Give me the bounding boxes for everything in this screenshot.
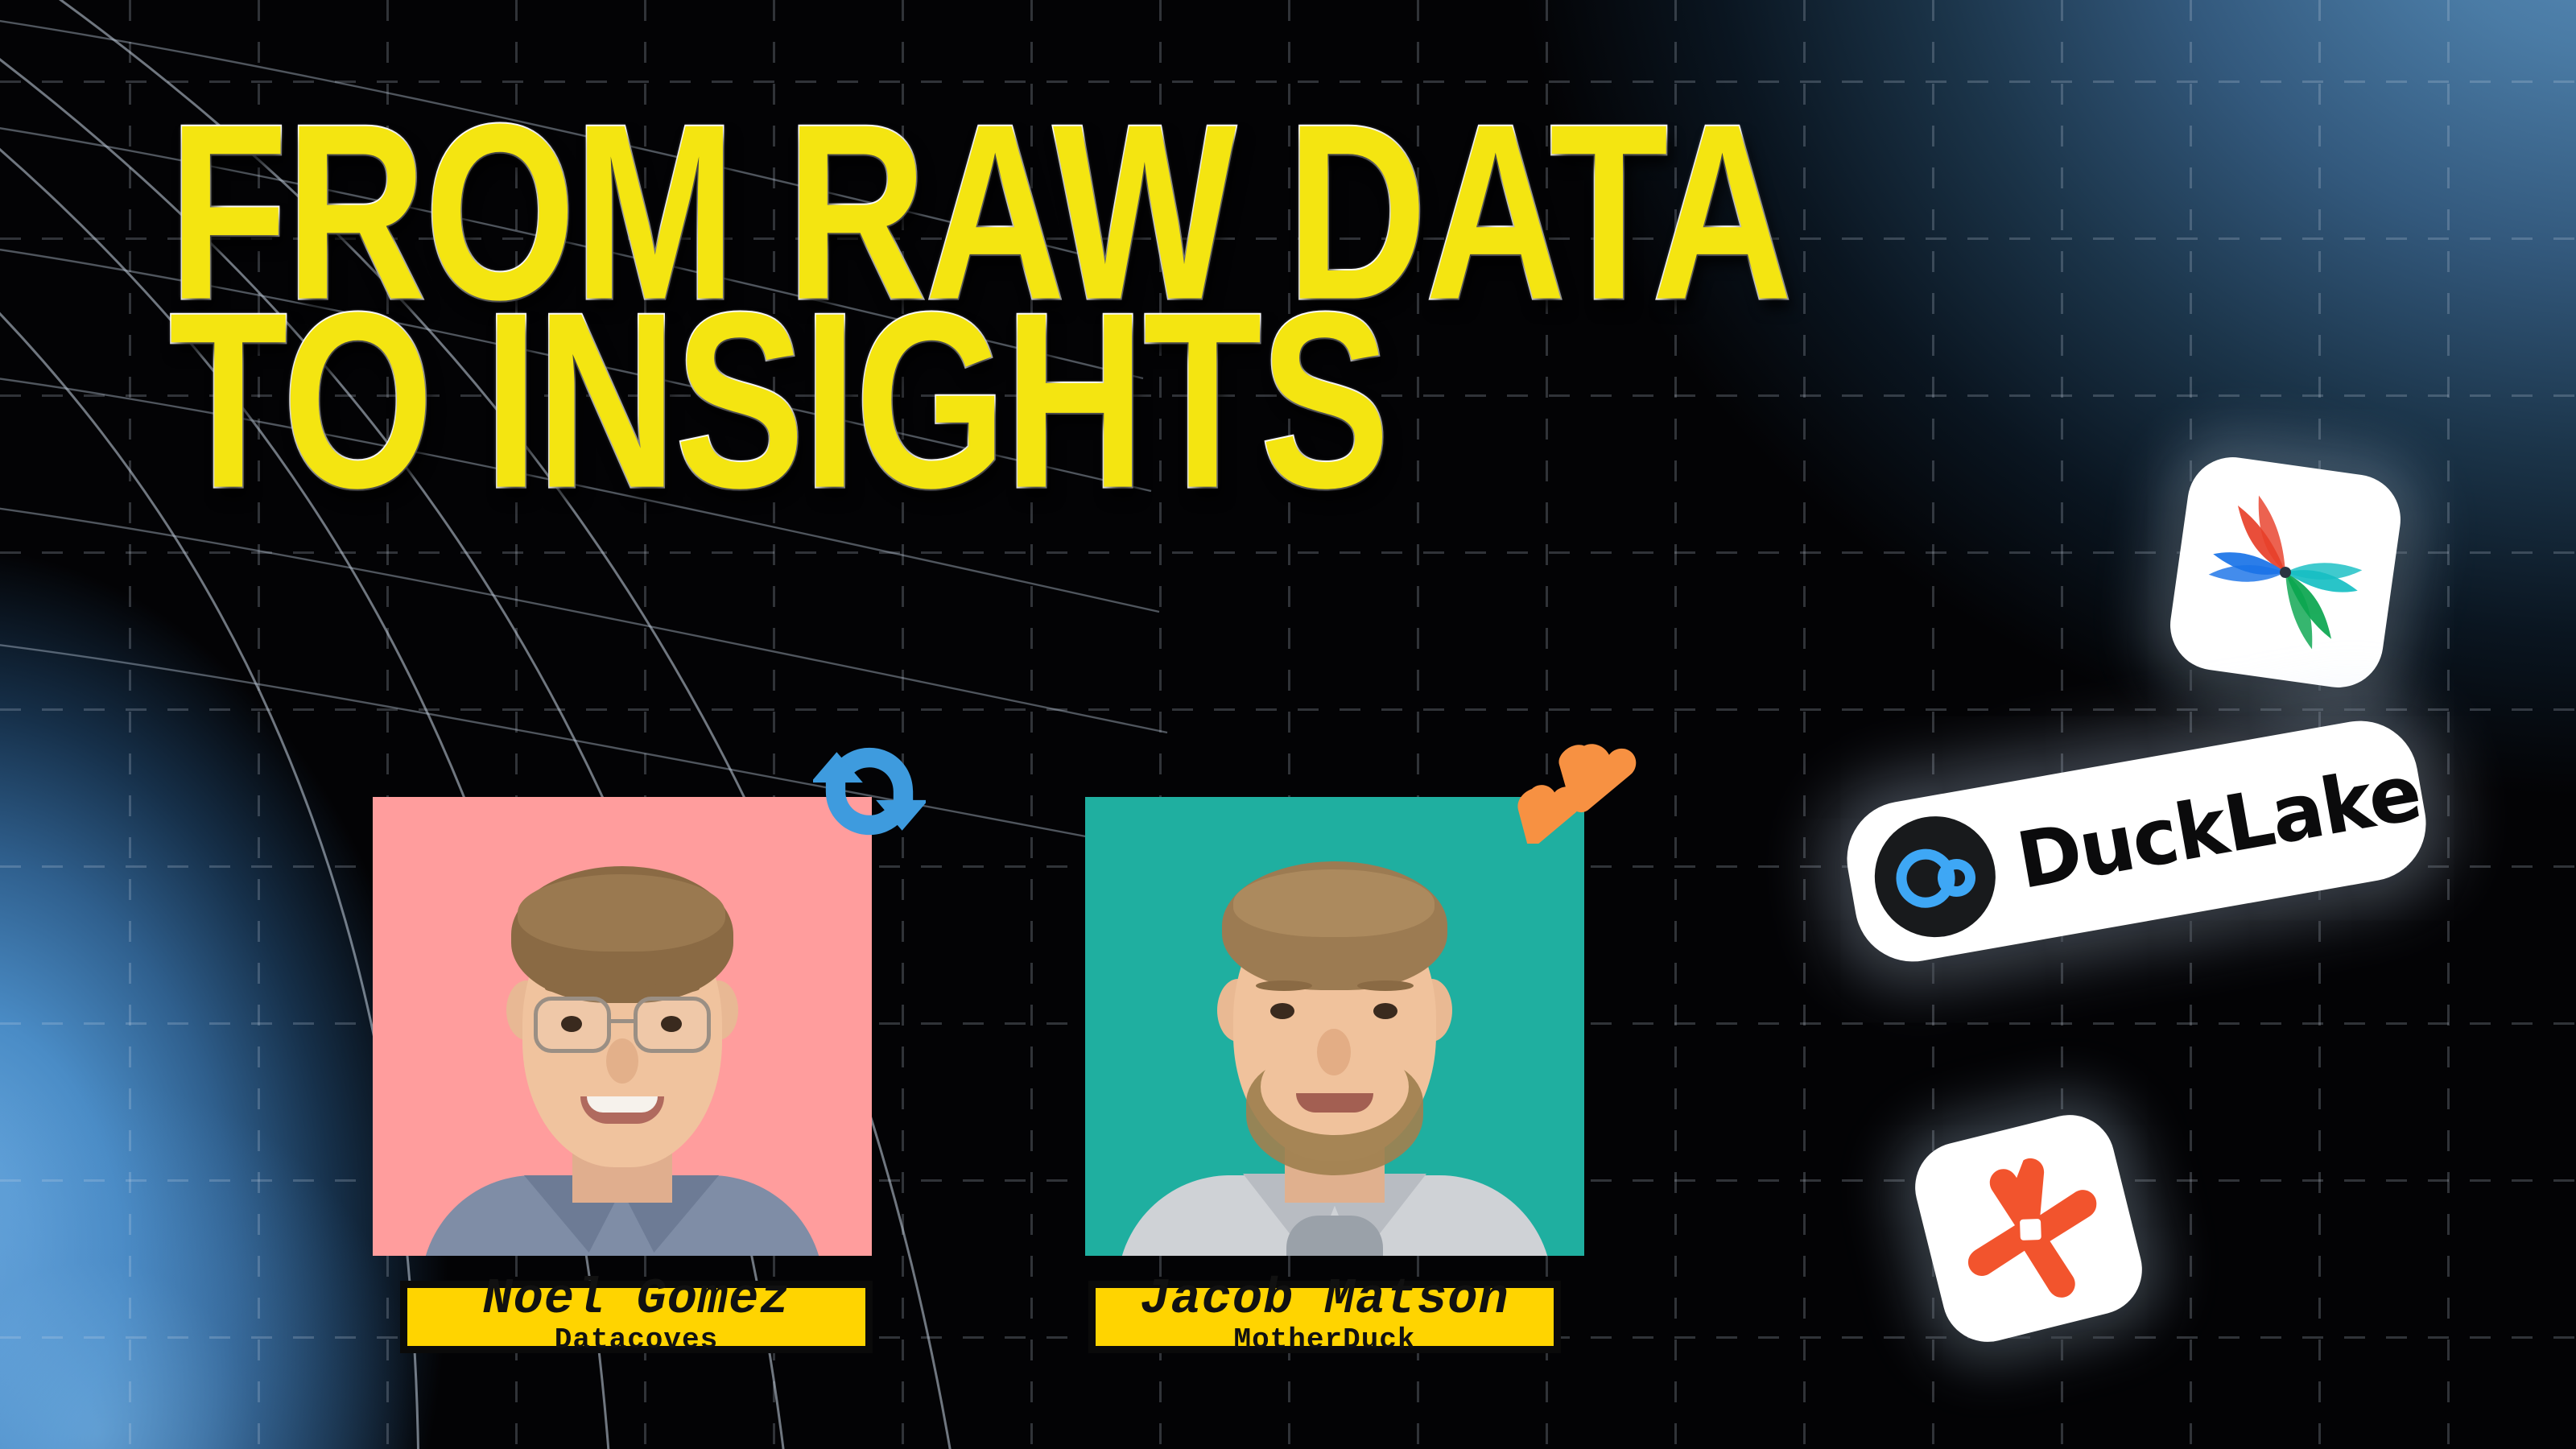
speaker-org: Datacoves — [555, 1325, 718, 1356]
sync-arrows-icon — [813, 739, 926, 844]
duck-feet-icon — [1513, 739, 1650, 844]
speaker-name: Jacob Matson — [1140, 1274, 1509, 1324]
title-line-2: TO INSIGHTS — [169, 285, 2479, 518]
speaker-photo-noel-gomez — [373, 797, 872, 1256]
ducklake-mark-icon — [1865, 807, 2005, 947]
orange-star-icon — [1936, 1136, 2121, 1321]
nameplate-noel-gomez: Noel Gomez Datacoves — [400, 1281, 873, 1353]
portrait-illustration-noel — [373, 797, 872, 1256]
logo-apache-airflow[interactable] — [2165, 452, 2406, 693]
speaker-org: MotherDuck — [1233, 1325, 1415, 1356]
airflow-pinwheel-icon — [2194, 481, 2376, 663]
speaker-name: Noel Gomez — [482, 1274, 790, 1324]
ducklake-wordmark: DuckLake — [2011, 747, 2427, 906]
title-card-canvas: FROM RAW DATA TO INSIGHTS — [0, 0, 2576, 1449]
speaker-photo-jacob-matson — [1085, 797, 1584, 1256]
portrait-illustration-jacob — [1085, 797, 1584, 1256]
nameplate-jacob-matson: Jacob Matson MotherDuck — [1088, 1281, 1561, 1353]
title-block: FROM RAW DATA TO INSIGHTS — [169, 97, 2391, 459]
